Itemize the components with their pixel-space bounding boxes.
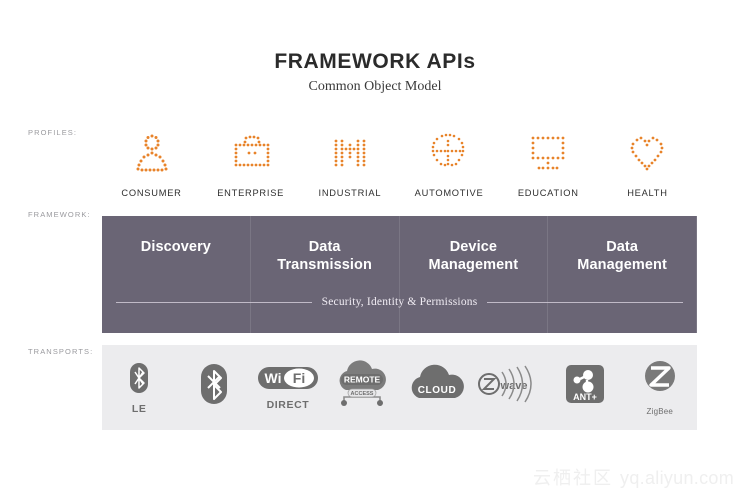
transport-item-zigbee[interactable]: ZigBee — [623, 355, 697, 421]
page-subtitle: Common Object Model — [0, 79, 750, 95]
profiles-row: CONSUMER — [102, 118, 697, 198]
security-label: Security, Identity & Permissions — [322, 296, 478, 308]
watermark-cn: 云栖社区 — [533, 464, 613, 490]
svg-text:ANT+: ANT+ — [574, 392, 598, 402]
monitor-icon — [524, 129, 572, 177]
factory-icon — [326, 129, 374, 177]
profile-item-industrial[interactable]: INDUSTRIAL — [300, 118, 399, 198]
profile-item-enterprise[interactable]: ENTERPRISE — [201, 118, 300, 198]
wifi-direct-icon: Wi Fi — [257, 365, 319, 396]
svg-text:REMOTE: REMOTE — [344, 374, 381, 384]
svg-text:ACCESS: ACCESS — [351, 391, 374, 397]
profile-label: CONSUMER — [121, 188, 181, 198]
transport-item-zwave[interactable]: wave — [474, 355, 548, 421]
transport-item-bluetooth-le[interactable]: LE — [102, 355, 176, 421]
svg-text:CLOUD: CLOUD — [417, 385, 456, 396]
briefcase-icon — [227, 129, 275, 177]
transport-item-bluetooth[interactable] — [176, 355, 250, 421]
bluetooth-le-icon — [126, 361, 152, 400]
svg-text:Fi: Fi — [293, 370, 305, 386]
zigbee-icon — [639, 359, 681, 404]
ant-plus-icon: ANT+ — [564, 363, 606, 410]
framework-panel-data-management[interactable]: DataManagement — [548, 216, 697, 333]
watermark: 云栖社区 yq.aliyun.com — [533, 464, 734, 490]
zwave-icon: wave — [476, 364, 546, 409]
transport-caption: DIRECT — [267, 399, 310, 411]
divider-line-right — [487, 302, 683, 303]
transport-item-remote-access[interactable]: REMOTE ACCESS — [325, 355, 399, 421]
profile-item-automotive[interactable]: AUTOMOTIVE — [400, 118, 499, 198]
heart-icon — [623, 129, 671, 177]
framework-panel-data-transmission[interactable]: DataTransmission — [251, 216, 400, 333]
svg-text:Wi: Wi — [264, 370, 281, 386]
profile-label: AUTOMOTIVE — [415, 188, 484, 198]
framework-panel-title: DataManagement — [571, 238, 673, 274]
framework-panel-title: DeviceManagement — [423, 238, 525, 274]
framework-band: Discovery DataTransmission DeviceManagem… — [102, 216, 697, 333]
security-banner: Security, Identity & Permissions — [116, 296, 683, 308]
transport-caption: LE — [132, 403, 147, 415]
remote-access-icon: REMOTE ACCESS — [330, 360, 394, 413]
bluetooth-icon — [197, 362, 231, 411]
transport-item-ant-plus[interactable]: ANT+ — [548, 355, 622, 421]
row-label-profiles: PROFILES: — [28, 128, 77, 137]
framework-panel-title: DataTransmission — [271, 238, 378, 274]
framework-panel-discovery[interactable]: Discovery — [102, 216, 251, 333]
transport-item-wifi-direct[interactable]: Wi Fi DIRECT — [251, 355, 325, 421]
transports-band: LE Wi Fi DIRECT — [102, 345, 697, 430]
transport-item-cloud[interactable]: CLOUD — [400, 355, 474, 421]
page-title: FRAMEWORK APIs — [0, 50, 750, 74]
profile-label: HEALTH — [627, 188, 668, 198]
cloud-icon: CLOUD — [405, 364, 469, 409]
row-label-framework: FRAMEWORK: — [28, 210, 91, 219]
profile-label: ENTERPRISE — [217, 188, 284, 198]
divider-line-left — [116, 302, 312, 303]
steering-wheel-icon — [425, 129, 473, 177]
header: FRAMEWORK APIs Common Object Model — [0, 50, 750, 95]
profile-item-education[interactable]: EDUCATION — [499, 118, 598, 198]
row-label-transports: TRANSPORTS: — [28, 347, 93, 356]
framework-panel-title: Discovery — [135, 238, 217, 256]
profile-label: EDUCATION — [518, 188, 579, 198]
framework-panel-device-management[interactable]: DeviceManagement — [400, 216, 549, 333]
profile-item-health[interactable]: HEALTH — [598, 118, 697, 198]
profile-item-consumer[interactable]: CONSUMER — [102, 118, 201, 198]
person-icon — [128, 129, 176, 177]
infographic-page: FRAMEWORK APIs Common Object Model PROFI… — [0, 0, 750, 500]
transport-caption: ZigBee — [647, 407, 674, 416]
profile-label: INDUSTRIAL — [318, 188, 381, 198]
watermark-en: yq.aliyun.com — [620, 468, 734, 489]
